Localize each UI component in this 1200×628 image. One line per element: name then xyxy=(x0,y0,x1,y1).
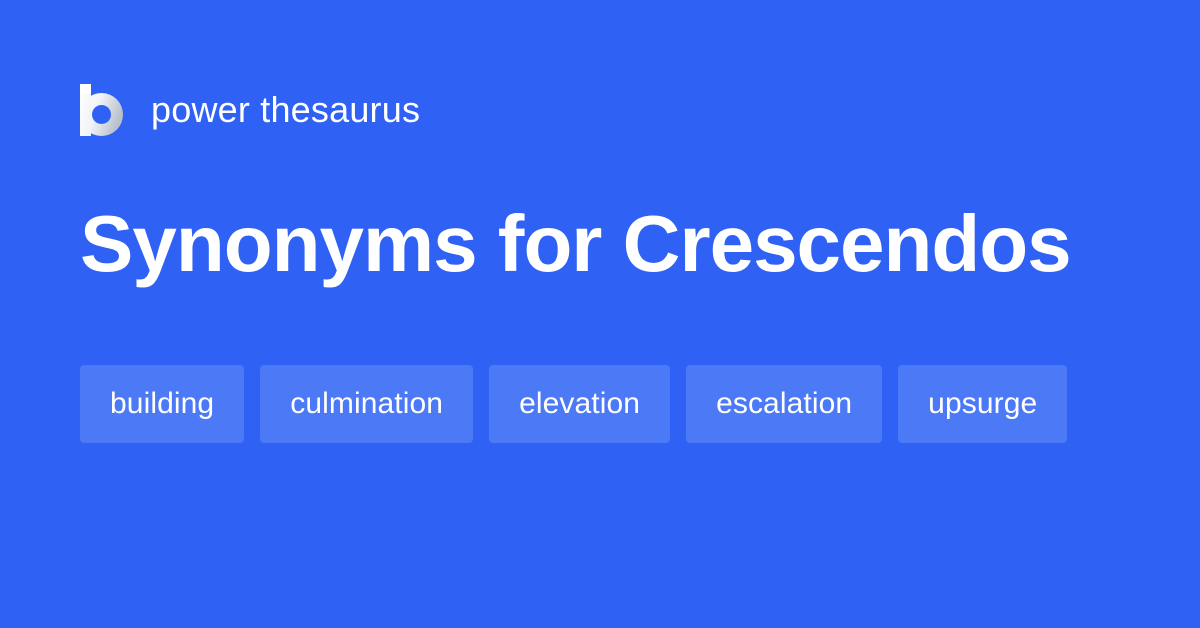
synonym-chip[interactable]: escalation xyxy=(686,365,882,443)
synonym-chip-label: escalation xyxy=(716,389,852,419)
synonym-chip[interactable]: elevation xyxy=(489,365,670,443)
synonym-chip-label: upsurge xyxy=(928,389,1037,419)
synonym-chip-list: building culmination elevation escalatio… xyxy=(80,365,1130,443)
brand-name: power thesaurus xyxy=(151,92,420,128)
power-thesaurus-logo-icon xyxy=(80,84,127,136)
brand-header[interactable]: power thesaurus xyxy=(80,80,420,140)
page-title: Synonyms for Crescendos xyxy=(80,198,1071,290)
synonym-chip-label: culmination xyxy=(290,389,443,419)
synonym-chip[interactable]: upsurge xyxy=(898,365,1067,443)
synonym-chip-label: elevation xyxy=(519,389,640,419)
page-canvas: power thesaurus Synonyms for Crescendos … xyxy=(0,0,1200,628)
synonym-chip-label: building xyxy=(110,389,214,419)
synonym-chip[interactable]: building xyxy=(80,365,244,443)
synonym-chip[interactable]: culmination xyxy=(260,365,473,443)
